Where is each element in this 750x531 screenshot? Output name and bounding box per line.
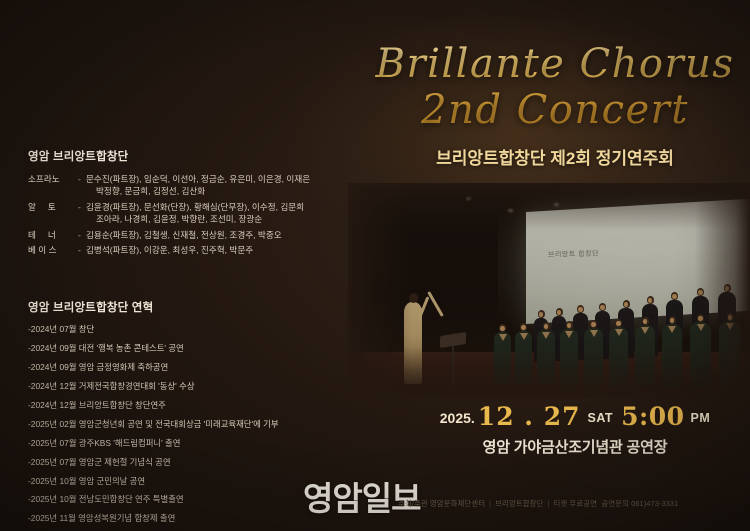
music-stand [452, 342, 454, 386]
venue-name: 영암 가야금산조기념관 공연장 [400, 436, 750, 457]
choir-singer [719, 321, 741, 388]
footer-contact: 공연문의 061)473-3331 [601, 499, 678, 508]
choir-singer [537, 330, 555, 384]
history-item: -2025년 11월 영암성복원기념 합창제 출연 [28, 513, 348, 524]
part-label: 소프라노 [28, 173, 78, 185]
footer-separator: | [489, 499, 491, 508]
choir-singer [609, 327, 628, 386]
roster-part-alto: 알 토 - 김윤경(파트장), 문선화(단장), 황해심(단무장), 이수정, … [28, 201, 348, 226]
projection-screen: 브리앙트 합창단 [526, 198, 750, 324]
part-label: 알 토 [28, 201, 78, 213]
history-item: -2025년 07월 영암군 제헌절 기념식 공연 [28, 457, 348, 468]
publisher-logo: 영암일보 [303, 472, 420, 520]
choir-singer [690, 322, 711, 387]
schedule-day-of-week: SAT [588, 411, 614, 425]
choir-singer [560, 329, 578, 385]
title-line-1: Brillante Chorus [370, 44, 740, 84]
footer-ticket: 티켓 무료공연 [553, 499, 597, 508]
part-label: 베 이 스 [28, 244, 78, 256]
ceiling-spotlight-icon [466, 197, 471, 200]
footer-credits: 주최/주관 영암문화재단센터|브리앙트합창단|티켓 무료공연 공연문의 061)… [398, 498, 748, 509]
footer-group: 브리앙트합창단 [495, 499, 543, 508]
performance-photo: 브리앙트 합창단 [348, 183, 750, 398]
choir-singer [584, 328, 603, 385]
part-members-line-2: 박정향, 문금희, 김정선, 김산화 [86, 185, 348, 197]
choir-singer [494, 332, 511, 384]
concert-title-english: Brillante Chorus 2nd Concert [370, 44, 740, 130]
part-members: 김병석(파트장), 이강운, 최성우, 진주혁, 박문주 [86, 244, 348, 256]
projection-screen-text: 브리앙트 합창단 [548, 249, 599, 260]
choir-roster: 영암 브리앙트합창단 소프라노 - 문수진(파트장), 임순덕, 이선아, 정금… [28, 148, 348, 260]
part-dash: - [78, 229, 86, 241]
title-line-2: 2nd Concert [370, 90, 740, 130]
photo-canvas: 브리앙트 합창단 [348, 183, 750, 398]
history-item: -2025년 07월 광주KBS '해드림컴퍼니' 출연 [28, 438, 348, 449]
schedule-time: 5:00 [621, 402, 684, 431]
choir-singer [662, 324, 682, 387]
part-label: 테 너 [28, 229, 78, 241]
part-members-line-2: 조아라, 나경희, 김윤정, 박향란, 조선미, 장광순 [86, 213, 348, 225]
part-members: 김용순(파트장), 김철생, 신재철, 전상원, 조경주, 박중오 [86, 229, 348, 241]
choir-singer [635, 325, 655, 386]
part-members-line-1: 김윤경(파트장), 문선화(단장), 황해심(단무장), 이수정, 김문희 [86, 202, 304, 212]
roster-part-bass: 베 이 스 - 김병석(파트장), 이강운, 최성우, 진주혁, 박문주 [28, 244, 348, 256]
part-members-line-1: 문수진(파트장), 임순덕, 이선아, 정금순, 유은미, 이은경, 이재은 [86, 174, 310, 184]
history-item: -2024년 09월 대전 '행복 농촌 콘테스트' 공연 [28, 343, 348, 354]
history-item: -2024년 12월 거제전국합창경연대회 '동상' 수상 [28, 381, 348, 392]
choir-singer [515, 331, 532, 384]
history-item: -2025년 10월 영암 군민의날 공연 [28, 476, 348, 487]
history-item: -2025년 02월 영암군청년회 공연 및 전국대회상금 '미래교육재단'에 … [28, 419, 348, 430]
roster-part-tenor: 테 너 - 김용순(파트장), 김철생, 신재철, 전상원, 조경주, 박중오 [28, 229, 348, 241]
concert-subtitle-korean: 브리앙트합창단 제2회 정기연주회 [370, 144, 740, 169]
part-members-line-1: 김병석(파트장), 이강운, 최성우, 진주혁, 박문주 [86, 245, 253, 255]
schedule-month-day: 12 . 27 [478, 402, 581, 431]
history-item: -2025년 10월 전남도민합창단 연주 특별출연 [28, 494, 348, 505]
roster-heading: 영암 브리앙트합창단 [28, 148, 348, 164]
roster-part-soprano: 소프라노 - 문수진(파트장), 임순덕, 이선아, 정금순, 유은미, 이은경… [28, 173, 348, 198]
part-dash: - [78, 201, 86, 213]
schedule-ampm: PM [691, 411, 711, 425]
part-members: 김윤경(파트장), 문선화(단장), 황해심(단무장), 이수정, 김문희 조아… [86, 201, 348, 226]
ceiling-spotlight-icon [508, 209, 513, 212]
history-item: -2024년 12월 브리앙트합창단 창단연주 [28, 400, 348, 411]
footer-hosts: 주최/주관 영암문화재단센터 [398, 499, 485, 508]
ceiling-spotlight-icon [554, 203, 559, 206]
part-members: 문수진(파트장), 임순덕, 이선아, 정금순, 유은미, 이은경, 이재은 박… [86, 173, 348, 198]
part-dash: - [78, 244, 86, 256]
history-item: -2024년 07월 창단 [28, 324, 348, 335]
choir-history: 영암 브리앙트합창단 연혁 -2024년 07월 창단 -2024년 09월 대… [28, 299, 348, 531]
schedule-year: 2025. [440, 410, 475, 426]
concert-poster: 브리앙트 합창단 [0, 0, 750, 531]
history-list: -2024년 07월 창단 -2024년 09월 대전 '행복 농촌 콘테스트'… [28, 324, 348, 525]
footer-separator: | [547, 499, 549, 508]
history-item: -2024년 09월 영암 금정영화제 축하공연 [28, 362, 348, 373]
part-members-line-1: 김용순(파트장), 김철생, 신재철, 전상원, 조경주, 박중오 [86, 230, 282, 240]
part-dash: - [78, 173, 86, 185]
schedule-bar: 2025.12 . 27SAT5:00PM 영암 가야금산조기념관 공연장 [400, 402, 750, 457]
history-heading: 영암 브리앙트합창단 연혁 [28, 299, 348, 315]
title-block: Brillante Chorus 2nd Concert 브리앙트합창단 제2회… [370, 44, 740, 169]
